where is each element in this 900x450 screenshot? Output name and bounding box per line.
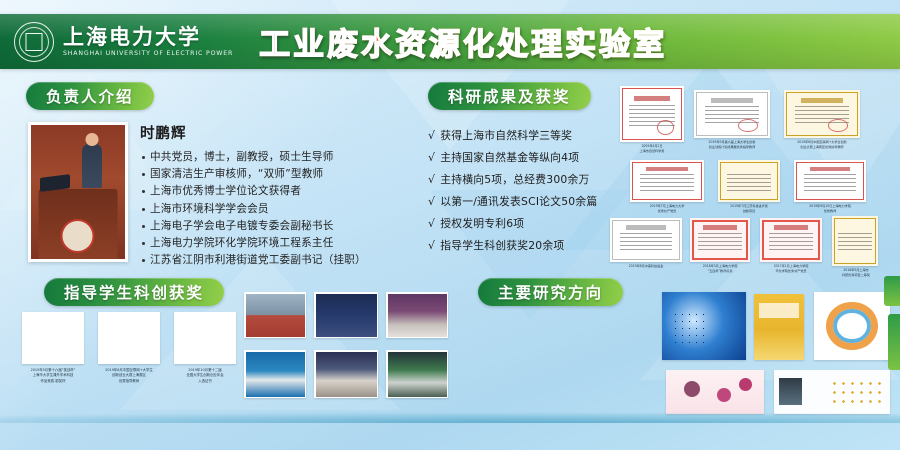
bullet-dot-icon — [142, 225, 145, 228]
leader-name: 时鹏辉 — [140, 122, 425, 143]
certificate-caption: 2019年5月第十六届“挑战杯” 上海市大学生课外学术科技 作品竞赛-铜奖杯 — [15, 368, 91, 384]
check-mark-icon: √ — [428, 128, 435, 144]
certificate-text-lines — [727, 174, 772, 191]
right-edge-accent — [888, 314, 900, 370]
check-mark-icon: √ — [428, 216, 435, 232]
certificate-thumbnail — [690, 218, 750, 262]
certificate-stamp-icon — [738, 119, 758, 131]
certificate-text-lines — [769, 233, 814, 251]
section-title-student-awards: 指导学生科创获奖 — [44, 278, 224, 306]
bio-list-item: 上海电力学院环化学院环境工程系主任 — [140, 235, 425, 252]
bio-text: 上海电子学会电子电镀专委会副秘书长 — [150, 218, 334, 235]
certificate-text-lines — [804, 174, 856, 191]
nanoparticle-shape — [717, 388, 731, 402]
certificate-caption: 2019年7月江苏科技进步奖 鼓励项目 — [712, 204, 786, 213]
certificate-text-lines — [698, 233, 741, 251]
photo-image — [316, 294, 377, 337]
leader-portrait-image — [31, 125, 125, 259]
certificate-caption: 2019年7月上海电力大学 优秀共产党员 — [624, 204, 710, 213]
certificate-caption: 2005年4月2日 上海市自然科学奖 — [614, 144, 690, 153]
bullet-dot-icon — [142, 190, 145, 193]
certificate-thumbnail — [630, 160, 704, 202]
bio-list-item: 上海市环境科学学会会员 — [140, 201, 425, 218]
bio-list-item: 上海市优秀博士学位论文获得者 — [140, 183, 425, 200]
certificate-title-bar — [626, 225, 666, 229]
certificate-thumbnail — [718, 160, 780, 202]
check-mark-icon: √ — [428, 238, 435, 254]
bio-text: 上海市优秀博士学位论文获得者 — [150, 183, 301, 200]
activity-photo — [386, 350, 448, 398]
achievement-text: 授权发明专利6项 — [440, 216, 524, 232]
device-schematic-shape — [779, 378, 802, 405]
bullet-dot-icon — [142, 208, 145, 211]
certificate-title-bar — [646, 167, 687, 171]
certificate-thumbnail — [620, 86, 684, 142]
certificate-title-bar — [634, 96, 670, 102]
activity-photo — [314, 292, 378, 338]
certificate-caption: 2018年5月上海市 科研优秀项目二等奖 — [824, 268, 888, 277]
bio-list-item: 上海电子学会电子电镀专委会副秘书长 — [140, 218, 425, 235]
certificate-thumbnail — [760, 218, 822, 262]
certificate-thumbnail — [832, 216, 878, 266]
photo-image — [316, 352, 377, 397]
certificate-caption: 2019年8月中美科技基金 — [606, 264, 686, 269]
university-name-block: 上海电力大学 SHANGHAI UNIVERSITY OF ELECTRIC P… — [63, 26, 233, 57]
activity-photo — [244, 350, 306, 398]
certificate-caption: 2019年9月第六届上海大学生创新 创业训练计划成果展优秀指导教师 — [688, 140, 776, 149]
bio-text: 中共党员，博士，副教授，硕士生导师 — [150, 149, 334, 166]
certificate-caption: 2017年1月上海电力学院 环化学院优秀共产党员 — [754, 264, 828, 273]
activity-photo — [386, 292, 448, 338]
certificate-caption: 2019年6月中国互联网+大学生创新 创业大赛上海赛区优秀指导教师 — [778, 140, 866, 149]
section-title-directions: 主要研究方向 — [478, 278, 623, 306]
university-name-cn: 上海电力大学 — [63, 26, 233, 48]
cycle-diagram-shape — [826, 302, 878, 351]
bio-list-item: 国家清洁生产审核师，“双师”型教师 — [140, 166, 425, 183]
bullet-dot-icon — [142, 156, 145, 159]
achievement-certificate-grid: 2005年4月2日 上海市自然科学奖 2019年9月第六届上海大学生创新 创业训… — [620, 86, 892, 276]
section-title-achievements: 科研成果及获奖 — [428, 82, 591, 110]
nanoparticle-shape — [684, 381, 700, 397]
research-figure — [814, 292, 890, 360]
check-mark-icon: √ — [428, 150, 435, 166]
poster-footer-band — [0, 414, 900, 450]
photo-image — [246, 352, 305, 397]
achievement-text: 获得上海市自然科学三等奖 — [440, 128, 572, 144]
leader-bio-list: 中共党员，博士，副教授，硕士生导师 国家清洁生产审核师，“双师”型教师 上海市优… — [140, 149, 425, 269]
certificate-stamp-icon — [828, 119, 848, 131]
certificate-caption: 2019年10月第十二届 全国大学生创新创业年会 入选证书 — [167, 368, 243, 384]
bio-text: 上海电力学院环化学院环境工程系主任 — [150, 235, 334, 252]
achievement-text: 以第一/通讯发表SCI论文50余篇 — [440, 194, 597, 210]
poster-header: 上海电力大学 SHANGHAI UNIVERSITY OF ELECTRIC P… — [0, 14, 900, 69]
lattice-shape — [830, 379, 886, 405]
bio-text: 江苏省江阴市利港街道党工委副书记（挂职） — [150, 252, 366, 269]
activity-photo — [314, 350, 378, 398]
photo-image — [246, 294, 305, 337]
nanoparticle-shape — [739, 378, 752, 391]
certificate-caption: 2019年9月10日上海电力学院 优秀教师 — [788, 204, 872, 213]
student-award-certificates: 2019年5月第十六届“挑战杯” 上海市大学生课外学术科技 作品竞赛-铜奖杯 2… — [22, 312, 240, 407]
activity-photo — [244, 292, 306, 338]
certificate-caption: 2019年8月中国互联网+大学生 创新创业大赛上海赛区 优秀指导教师 — [91, 368, 167, 384]
leader-bio: 时鹏辉 中共党员，博士，副教授，硕士生导师 国家清洁生产审核师，“双师”型教师 … — [140, 122, 425, 270]
bio-list-item: 中共党员，博士，副教授，硕士生导师 — [140, 149, 425, 166]
certificate-text-lines — [640, 174, 693, 191]
certificate-title-bar — [703, 225, 737, 229]
certificate-thumbnail — [784, 90, 860, 138]
research-figure — [662, 292, 746, 360]
certificate-thumbnail — [98, 312, 160, 364]
university-seal-icon — [14, 22, 54, 62]
leader-portrait — [28, 122, 128, 262]
certificate-thumbnail — [610, 218, 682, 262]
certificate-thumbnail — [174, 312, 236, 364]
university-branding: 上海电力大学 SHANGHAI UNIVERSITY OF ELECTRIC P… — [0, 22, 233, 62]
student-activity-photo-grid — [244, 292, 460, 410]
certificate-title-bar — [801, 98, 844, 103]
achievement-text: 主持横向5项，总经费300余万 — [440, 172, 589, 188]
section-title-leader: 负责人介绍 — [26, 82, 154, 110]
photo-image — [388, 352, 447, 397]
banner-title: 工业废水资源化处理实验室 — [259, 19, 667, 64]
journal-cover-panel — [759, 303, 799, 318]
podium-shape — [39, 189, 118, 259]
bio-text: 国家清洁生产审核师，“双师”型教师 — [150, 166, 323, 183]
graphene-particles-shape — [672, 311, 709, 344]
bullet-dot-icon — [142, 173, 145, 176]
certificate-thumbnail — [794, 160, 866, 202]
bullet-dot-icon — [142, 259, 145, 262]
certificate-text-lines — [620, 233, 672, 251]
speaker-figure-icon — [82, 144, 102, 188]
check-mark-icon: √ — [428, 194, 435, 210]
certificate-title-bar — [774, 225, 809, 229]
achievement-text: 主持国家自然基金等纵向4项 — [440, 150, 579, 166]
research-figure — [754, 294, 804, 360]
certificate-title-bar — [711, 98, 754, 103]
achievement-text: 指导学生科创获奖20余项 — [440, 238, 564, 254]
bullet-dot-icon — [142, 242, 145, 245]
check-mark-icon: √ — [428, 172, 435, 188]
certificate-caption: 2018年3月上海电力学院 “五四杯”教育标兵 — [684, 264, 756, 273]
certificate-thumbnail — [694, 90, 770, 138]
bio-text: 上海市环境科学学会会员 — [150, 201, 269, 218]
right-edge-accent — [884, 276, 900, 306]
research-figure-grid — [662, 292, 894, 417]
certificate-thumbnail — [22, 312, 84, 364]
certificate-text-lines — [838, 233, 871, 253]
certificate-stamp-icon — [657, 120, 674, 135]
certificate-title-bar — [810, 167, 850, 171]
university-name-en: SHANGHAI UNIVERSITY OF ELECTRIC POWER — [63, 50, 233, 57]
bio-list-item: 江苏省江阴市利港街道党工委副书记（挂职） — [140, 252, 425, 269]
photo-image — [388, 294, 447, 337]
